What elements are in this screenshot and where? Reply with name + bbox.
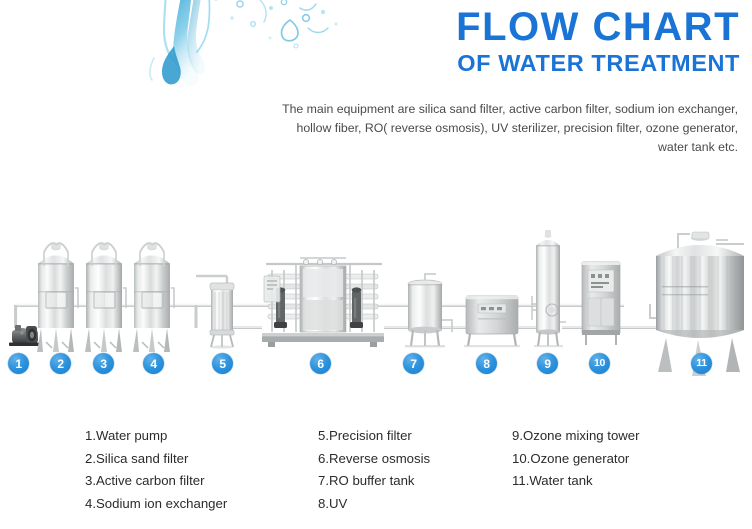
ozone-mixing-tower-icon [532, 230, 566, 347]
page-title: FLOW CHART [456, 6, 740, 48]
badge-6[interactable]: 6 [310, 353, 331, 374]
legend-column-2: 5.Precision filter 6.Reverse osmosis 7.R… [318, 425, 430, 515]
water-pump-icon [9, 325, 40, 346]
badge-2[interactable]: 2 [50, 353, 71, 374]
cartridge-filter-icon [196, 276, 234, 349]
list-item: 1.Water pump [85, 425, 227, 448]
badge-9[interactable]: 9 [537, 353, 558, 374]
pipe-network [14, 244, 744, 329]
ro-skid-icon [262, 258, 384, 347]
list-item: 9.Ozone mixing tower [512, 425, 640, 448]
badge-7[interactable]: 7 [403, 353, 424, 374]
list-item: 4.Sodium ion exchanger [85, 493, 227, 516]
intro-paragraph: The main equipment are silica sand filte… [268, 100, 738, 157]
list-item: 2.Silica sand filter [85, 448, 227, 471]
badge-3[interactable]: 3 [93, 353, 114, 374]
pressure-tank-icon [37, 243, 174, 352]
title-block: FLOW CHART OF WATER TREATMENT [456, 6, 740, 77]
badge-10[interactable]: 10 [589, 353, 610, 374]
list-item: 6.Reverse osmosis [318, 448, 430, 471]
legend: 1.Water pump 2.Silica sand filter 3.Acti… [0, 425, 752, 529]
badge-4[interactable]: 4 [143, 353, 164, 374]
list-item: 3.Active carbon filter [85, 470, 227, 493]
equipment-flow-diagram: 1 2 3 4 5 6 7 8 9 10 11 [0, 200, 752, 400]
uv-sterilizer-icon [464, 296, 520, 347]
list-item: 8.UV [318, 493, 430, 516]
ozone-generator-icon [582, 262, 620, 345]
legend-column-1: 1.Water pump 2.Silica sand filter 3.Acti… [85, 425, 227, 515]
buffer-tank-icon [405, 274, 452, 347]
badge-5[interactable]: 5 [212, 353, 233, 374]
list-item: 10.Ozone generator [512, 448, 640, 471]
badge-11[interactable]: 11 [691, 353, 712, 374]
list-item: 5.Precision filter [318, 425, 430, 448]
list-item: 11.Water tank [512, 470, 640, 493]
badge-1[interactable]: 1 [8, 353, 29, 374]
page-header: FLOW CHART OF WATER TREATMENT The main e… [0, 0, 752, 170]
list-item: 7.RO buffer tank [318, 470, 430, 493]
diagram-canvas [0, 200, 752, 400]
legend-column-3: 9.Ozone mixing tower 10.Ozone generator … [512, 425, 640, 493]
page-subtitle: OF WATER TREATMENT [456, 49, 740, 77]
badge-8[interactable]: 8 [476, 353, 497, 374]
